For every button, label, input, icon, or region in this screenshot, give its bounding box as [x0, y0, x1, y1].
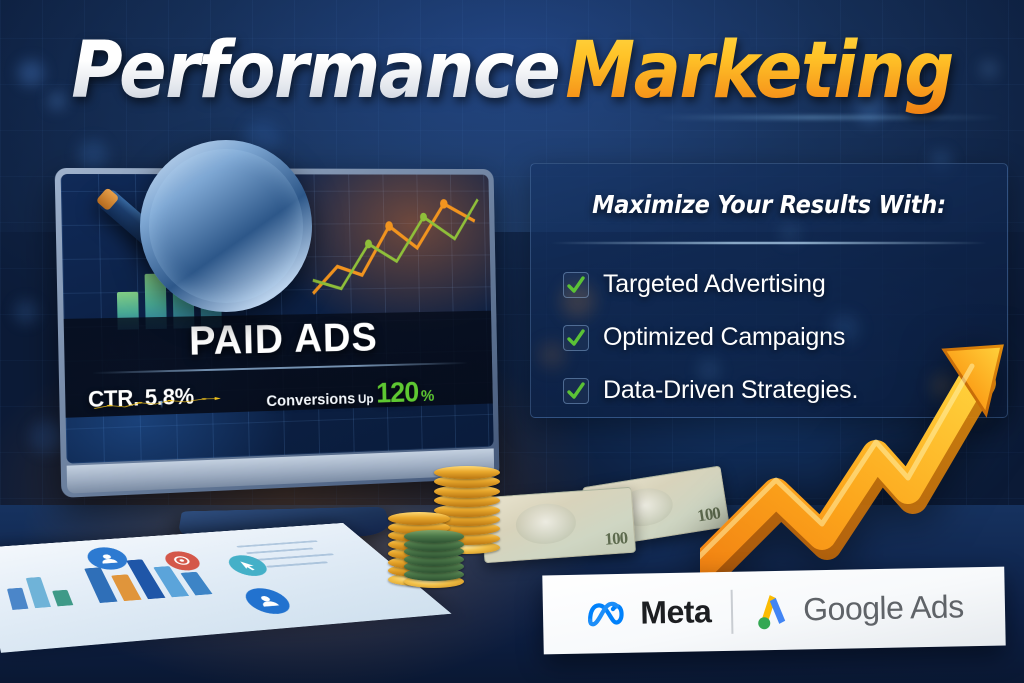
google-ads-logo: Google Ads	[753, 587, 964, 631]
meta-infinity-icon	[584, 598, 631, 629]
logo-divider	[731, 589, 734, 633]
benefit-item[interactable]: Targeted Advertising	[563, 258, 991, 311]
coin-stack-short	[404, 530, 464, 588]
page-title: PerformanceMarketing	[0, 26, 1024, 116]
checkbox-checked[interactable]	[563, 378, 589, 404]
panel-divider	[550, 242, 988, 244]
check-icon	[566, 328, 586, 348]
coin	[404, 530, 464, 543]
report-bar	[84, 567, 117, 603]
report-bar	[7, 588, 28, 610]
panel-heading: Maximize Your Results With:	[531, 190, 1007, 219]
stat-ctr: CTR. 5.8%	[88, 377, 267, 413]
coin	[388, 512, 450, 525]
title-part-marketing: Marketing	[565, 26, 953, 116]
report-bar	[52, 590, 73, 607]
screen-line-chart	[307, 191, 483, 303]
conversions-percent: %	[421, 386, 435, 405]
report-text-line	[246, 548, 314, 555]
user-icon	[238, 587, 298, 616]
report-bar	[26, 577, 51, 608]
conversions-value: 120	[376, 376, 419, 410]
stat-conversions: Conversions Up 120 %	[266, 371, 477, 414]
coin	[434, 466, 500, 479]
bokeh-light	[781, 224, 799, 242]
partner-logo-bar: Meta Google Ads	[542, 567, 1005, 655]
report-icon-badges	[0, 523, 343, 548]
printed-analytics-report	[0, 523, 452, 653]
bill-front: 100	[480, 487, 636, 563]
google-ads-icon	[753, 590, 794, 631]
report-text-line	[256, 553, 335, 560]
magnifier-rim	[140, 140, 312, 312]
dollar-bills: 100 100	[478, 474, 728, 570]
conversions-up-label: Up	[358, 391, 374, 406]
check-icon	[566, 381, 586, 401]
report-text-line	[266, 561, 328, 567]
meta-logo: Meta	[584, 593, 712, 632]
checkbox-checked[interactable]	[563, 325, 589, 351]
bokeh-light	[30, 420, 64, 454]
conversions-label: Conversions	[266, 391, 355, 411]
marketing-banner: PerformanceMarketing PAID ADS	[0, 0, 1024, 683]
checkbox-checked[interactable]	[563, 272, 589, 298]
benefit-label: Targeted Advertising	[603, 270, 826, 299]
bokeh-light	[14, 300, 38, 324]
report-text-line	[236, 540, 318, 547]
meta-label: Meta	[640, 593, 712, 631]
title-part-performance: Performance	[71, 26, 565, 116]
bokeh-light	[539, 342, 565, 368]
report-bar-chart	[0, 523, 343, 548]
magnifying-glass-icon	[140, 140, 312, 312]
check-icon	[566, 275, 586, 295]
bokeh-light	[78, 140, 108, 170]
google-ads-label: Google Ads	[803, 588, 964, 628]
lens-flare	[655, 116, 1003, 119]
